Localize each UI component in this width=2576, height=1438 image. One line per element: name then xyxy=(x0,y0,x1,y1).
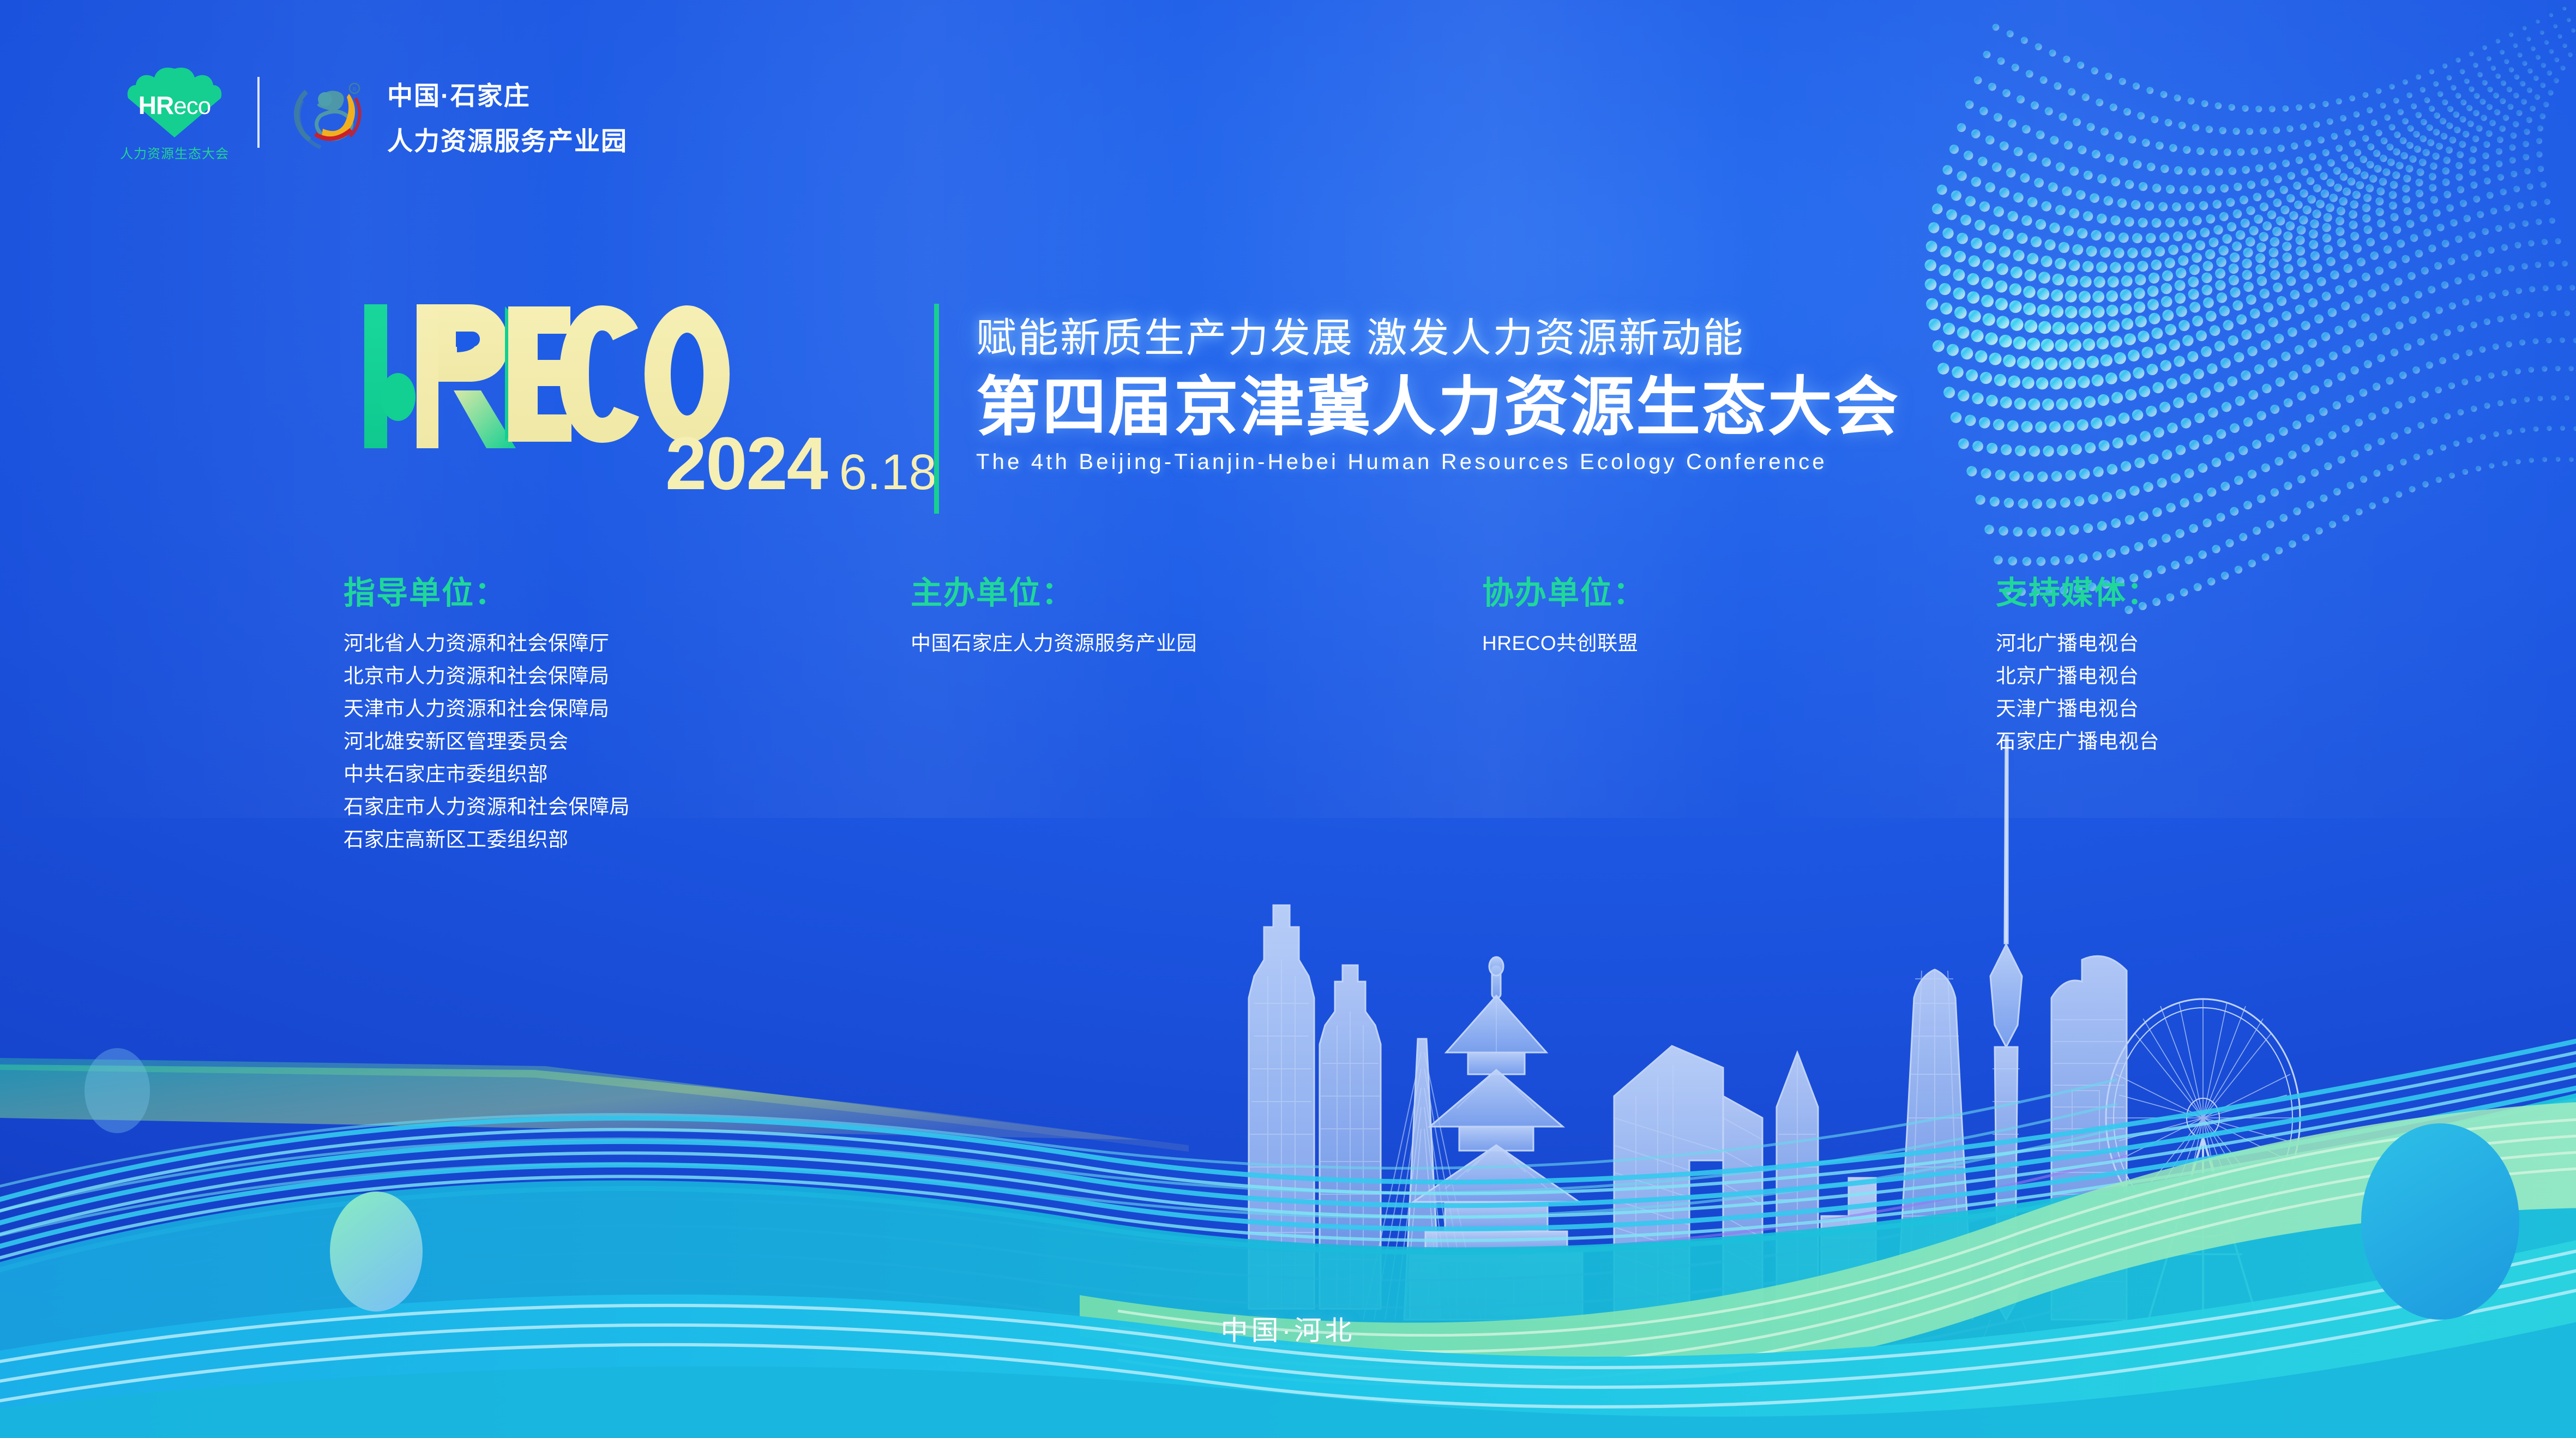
hreco-subtitle: 人力资源生态大会 xyxy=(120,143,229,162)
header-logos: HReco 人力资源生态大会 R xyxy=(125,65,628,166)
list-item: 河北省人力资源和社会保障厅 xyxy=(344,627,630,660)
list-item: 天津广播电视台 xyxy=(1996,693,2159,725)
park-emblem-icon: R xyxy=(290,75,372,157)
list-item: 石家庄高新区工委组织部 xyxy=(344,823,630,856)
park-line-1: 中国·石家庄 xyxy=(387,75,628,112)
hreco-brand-lockup: 2024 6.18 xyxy=(360,294,894,518)
organizer-column-coorganizer: 协办单位： HRECO共创联盟 xyxy=(1482,567,1646,660)
list-item: HRECO共创联盟 xyxy=(1482,627,1646,660)
list-item: 石家庄市人力资源和社会保障局 xyxy=(344,791,630,823)
tagline: 赋能新质生产力发展 激发人力资源新动能 xyxy=(976,305,1900,364)
shijiazhuang-park-logo: R 中国·石家庄 人力资源服务产业园 xyxy=(290,75,628,158)
decor-circle-mid xyxy=(330,1192,423,1311)
main-title: 第四届京津冀人力资源生态大会 xyxy=(976,371,1900,443)
event-day: 6.18 xyxy=(839,450,937,495)
list-item: 石家庄广播电视台 xyxy=(1996,725,2159,758)
header-divider xyxy=(257,77,260,148)
title-block: 赋能新质生产力发展 激发人力资源新动能 第四届京津冀人力资源生态大会 The 4… xyxy=(976,305,1900,474)
hreco-wordmark: HReco xyxy=(126,91,223,120)
hreco-logo: HReco 人力资源生态大会 xyxy=(125,65,224,166)
english-title: The 4th Beijing-Tianjin-Hebei Human Reso… xyxy=(976,450,1900,474)
organizer-column-media: 支持媒体： 河北广播电视台 北京广播电视台 天津广播电视台 石家庄广播电视台 xyxy=(1996,567,2159,758)
list-item: 中国石家庄人力资源服务产业园 xyxy=(911,627,1197,660)
list-item: 河北雄安新区管理委员会 xyxy=(344,725,630,758)
decor-circle-small xyxy=(85,1048,150,1133)
column-heading: 支持媒体： xyxy=(1996,567,2159,613)
organizer-column-guidance: 指导单位： 河北省人力资源和社会保障厅 北京市人力资源和社会保障局 天津市人力资… xyxy=(344,567,630,856)
park-line-2: 人力资源服务产业园 xyxy=(387,120,628,158)
conference-banner: HReco 人力资源生态大会 R xyxy=(0,0,2576,1438)
column-heading: 协办单位： xyxy=(1482,567,1646,613)
list-item: 中共石家庄市委组织部 xyxy=(344,758,630,791)
column-heading: 主办单位： xyxy=(911,567,1197,613)
event-date: 2024 6.18 xyxy=(665,434,937,495)
list-item: 河北广播电视台 xyxy=(1996,627,2159,660)
park-logo-text: 中国·石家庄 人力资源服务产业园 xyxy=(387,75,628,158)
list-item: 北京广播电视台 xyxy=(1996,660,2159,693)
title-divider xyxy=(934,304,939,514)
list-item: 天津市人力资源和社会保障局 xyxy=(344,693,630,725)
organizer-column-host: 主办单位： 中国石家庄人力资源服务产业园 xyxy=(911,567,1197,660)
hreco-fan-icon: HReco xyxy=(126,65,223,140)
organizer-columns: 指导单位： 河北省人力资源和社会保障厅 北京市人力资源和社会保障局 天津市人力资… xyxy=(0,567,2576,873)
list-item: 北京市人力资源和社会保障局 xyxy=(344,660,630,693)
column-heading: 指导单位： xyxy=(344,567,630,613)
decor-circle-large xyxy=(2361,1123,2519,1320)
footer-location: 中国·河北 xyxy=(0,1309,2576,1348)
svg-text:R: R xyxy=(352,86,357,93)
event-year: 2024 xyxy=(665,434,827,495)
